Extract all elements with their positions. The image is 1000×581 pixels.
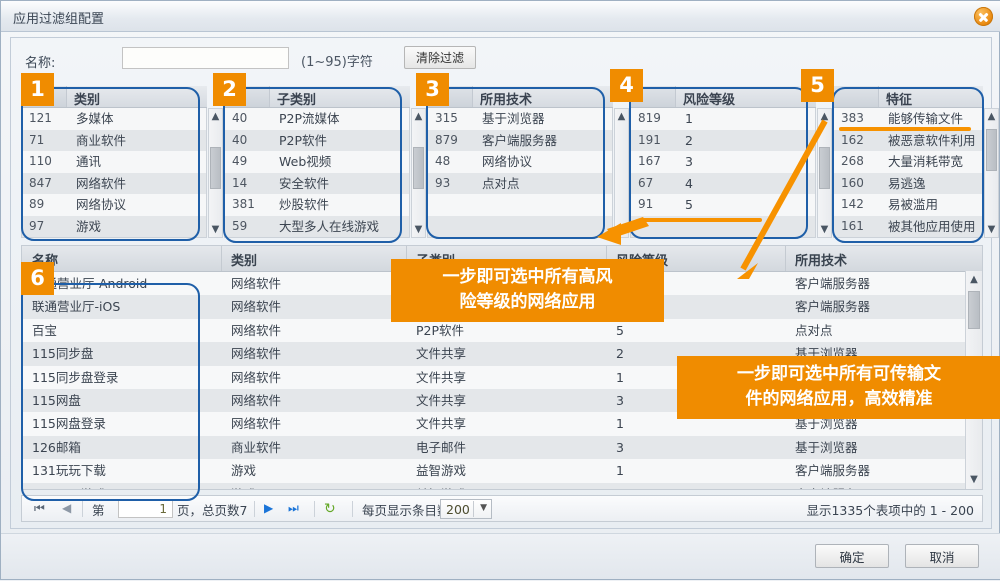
cell-subcategory: 文件共享 — [416, 366, 466, 389]
filter-header: 风险等级 — [630, 86, 816, 108]
column-header-category[interactable]: 类别 — [231, 250, 257, 269]
table-row[interactable]: 131玩玩下载游戏益智游戏1客户端服务器 — [22, 459, 982, 482]
row-count: 49 — [232, 151, 274, 173]
name-label: 名称: — [25, 52, 55, 71]
filter-row[interactable]: 71商业软件 — [22, 130, 206, 152]
cell-category: 游戏 — [231, 459, 256, 482]
filter-row[interactable]: 161被其他应用使用 — [834, 216, 982, 238]
callout-file-transfer: 一步即可选中所有可传输文 件的网络应用，高效精准 — [677, 356, 1000, 419]
row-label: 多媒体 — [76, 108, 114, 130]
row-label: P2P流媒体 — [279, 108, 340, 130]
row-label: 网络协议 — [76, 194, 126, 216]
row-label: 被恶意软件利用 — [888, 130, 976, 152]
row-label: 安全软件 — [279, 173, 329, 195]
callout-line-2: 险等级的网络应用 — [401, 290, 654, 315]
window-title: 应用过滤组配置 — [13, 8, 104, 27]
row-label: 商业软件 — [76, 130, 126, 152]
row-count: 879 — [435, 130, 477, 152]
scroll-thumb[interactable] — [413, 147, 424, 189]
cell-technology: 客户端服务器 — [795, 459, 870, 482]
chevron-down-icon[interactable]: ▼ — [480, 503, 487, 513]
cell-category: 网络软件 — [231, 366, 281, 389]
row-count: 191 — [638, 130, 680, 152]
refresh-icon[interactable]: ↻ — [324, 501, 336, 517]
filter-row[interactable]: 1673 — [631, 151, 815, 173]
scroll-up-icon[interactable]: ▲ — [966, 272, 982, 288]
table-row[interactable]: 131玩玩游戏游戏益智游戏1客户端服务器 — [22, 483, 982, 490]
row-count: 97 — [29, 216, 71, 238]
filter-scrollbar[interactable]: ▲ ▼ — [208, 108, 223, 238]
filter-list-technology: 所用技术 315基于浏览器 879客户端服务器 48网络协议 93点对点 ▲ ▼ — [427, 86, 613, 238]
row-label: 网络软件 — [76, 173, 126, 195]
cell-category: 网络软件 — [231, 412, 281, 435]
row-count: 59 — [232, 216, 274, 238]
cell-name: 126邮箱 — [32, 436, 81, 459]
cell-risk: 1 — [616, 412, 624, 435]
filter-scrollbar[interactable]: ▲ ▼ — [411, 108, 426, 238]
table-row[interactable]: 百宝网络软件P2P软件5点对点 — [22, 319, 982, 342]
filter-list-subcategory: 子类别 40P2P流媒体 40P2P软件 49Web视频 14安全软件 381炒… — [224, 86, 410, 238]
filter-header: 特征 — [833, 86, 983, 108]
filter-row[interactable]: 162被恶意软件利用 — [834, 130, 982, 152]
step-badge-1: 1 — [21, 73, 54, 106]
row-label: 客户端服务器 — [482, 130, 557, 152]
row-label: 易被滥用 — [888, 194, 938, 216]
filter-row[interactable]: 381炒股软件 — [225, 194, 409, 216]
feature-row-underline — [839, 127, 971, 131]
row-count: 40 — [232, 130, 274, 152]
filter-row[interactable]: 847网络软件 — [22, 173, 206, 195]
cell-risk: 3 — [616, 436, 624, 459]
filter-row[interactable]: 121多媒体 — [22, 108, 206, 130]
filter-header-label: 类别 — [74, 89, 100, 108]
cell-category: 游戏 — [231, 483, 256, 490]
row-count: 315 — [435, 108, 477, 130]
filter-row[interactable]: 14安全软件 — [225, 173, 409, 195]
scroll-up-icon[interactable]: ▲ — [818, 109, 831, 124]
row-label: Web视频 — [279, 151, 331, 173]
per-page-value: 200 — [446, 502, 470, 517]
filter-row[interactable]: 48网络协议 — [428, 151, 612, 173]
cell-name: 115同步盘登录 — [32, 366, 118, 389]
prev-page-icon[interactable]: ◀ — [62, 501, 71, 515]
table-row[interactable]: 126邮箱商业软件电子邮件3基于浏览器 — [22, 436, 982, 459]
callout-line-2: 件的网络应用，高效精准 — [687, 387, 991, 412]
row-label: 5 — [685, 194, 693, 216]
step-badge-5: 5 — [801, 69, 834, 102]
cell-category: 商业软件 — [231, 436, 281, 459]
cell-category: 网络软件 — [231, 319, 281, 342]
cell-subcategory: 电子邮件 — [416, 436, 466, 459]
scroll-up-icon[interactable]: ▲ — [985, 109, 998, 124]
scroll-up-icon[interactable]: ▲ — [615, 109, 628, 124]
filter-row[interactable]: 268大量消耗带宽 — [834, 151, 982, 173]
column-header-technology[interactable]: 所用技术 — [795, 250, 847, 269]
scroll-down-icon[interactable]: ▼ — [818, 222, 831, 237]
row-label: 3 — [685, 151, 693, 173]
filter-row[interactable]: 89网络协议 — [22, 194, 206, 216]
scroll-down-icon[interactable]: ▼ — [966, 472, 982, 488]
filter-row[interactable]: 40P2P软件 — [225, 130, 409, 152]
row-label: 大量消耗带宽 — [888, 151, 963, 173]
scroll-up-icon[interactable]: ▲ — [209, 109, 222, 124]
row-label: 被其他应用使用 — [888, 216, 976, 238]
filter-row[interactable]: 8191 — [631, 108, 815, 130]
filter-header: 所用技术 — [427, 86, 613, 108]
row-label: 4 — [685, 173, 693, 195]
cell-name: 131玩玩下载 — [32, 459, 106, 482]
cell-category: 网络软件 — [231, 342, 281, 365]
filter-row[interactable]: 1912 — [631, 130, 815, 152]
cell-name: 131玩玩游戏 — [32, 483, 106, 490]
row-label: 点对点 — [482, 173, 520, 195]
scroll-thumb[interactable] — [210, 147, 221, 189]
cell-category: 网络软件 — [231, 295, 281, 318]
step-badge-4: 4 — [610, 69, 643, 102]
filter-row[interactable]: 49Web视频 — [225, 151, 409, 173]
row-count: 48 — [435, 151, 477, 173]
callout-line-1: 一步即可选中所有可传输文 — [687, 362, 991, 387]
cell-name: 百宝 — [32, 319, 57, 342]
cell-technology: 基于浏览器 — [795, 436, 858, 459]
filter-list-category: 类别 121多媒体 71商业软件 110通讯 847网络软件 89网络协议 97… — [21, 86, 207, 238]
row-label: P2P软件 — [279, 130, 327, 152]
length-hint: (1~95)字符 — [301, 51, 373, 70]
cell-category: 网络软件 — [231, 389, 281, 412]
cell-technology: 客户端服务器 — [795, 295, 870, 318]
row-count: 160 — [841, 173, 883, 195]
row-count: 819 — [638, 108, 680, 130]
pagination-bar: ⏮ ◀ 第 页，总页数7 ▶ ⏭ ↻ 每页显示条目数 200 ▼ 显示1335个… — [21, 495, 983, 522]
cell-risk: 1 — [616, 459, 624, 482]
filter-scrollbar[interactable]: ▲ ▼ — [614, 108, 629, 238]
name-input[interactable] — [122, 47, 289, 69]
filter-rows: 121多媒体 71商业软件 110通讯 847网络软件 89网络协议 97游戏 — [21, 108, 207, 238]
row-count: 93 — [435, 173, 477, 195]
header-divider — [785, 246, 786, 271]
scroll-thumb[interactable] — [968, 291, 980, 329]
filter-header: 子类别 — [224, 86, 410, 108]
row-count: 121 — [29, 108, 71, 130]
total-pages-label: 页，总页数7 — [177, 500, 247, 519]
title-bar: 应用过滤组配置 — [1, 1, 1000, 32]
row-count: 381 — [232, 194, 274, 216]
cell-subcategory: 文件共享 — [416, 389, 466, 412]
name-row: 名称: (1~95)字符 清除过滤 — [21, 46, 981, 74]
filter-header-label: 特征 — [886, 89, 912, 108]
per-page-select[interactable]: 200 ▼ — [440, 499, 492, 519]
filter-row[interactable]: 59大型多人在线游戏 — [225, 216, 409, 238]
cell-risk: 1 — [616, 366, 624, 389]
cell-category: 网络软件 — [231, 272, 281, 295]
filter-row[interactable]: 93点对点 — [428, 173, 612, 195]
count-column-header — [833, 86, 879, 107]
cell-technology: 客户端服务器 — [795, 272, 870, 295]
callout-risk-level: 一步即可选中所有高风 险等级的网络应用 — [391, 259, 664, 322]
filter-row[interactable]: 97游戏 — [22, 216, 206, 238]
last-page-icon[interactable]: ⏭ — [288, 501, 299, 516]
filter-list-risk-level: 风险等级 8191 1912 1673 674 915 ▲ ▼ — [630, 86, 816, 238]
record-range-status: 显示1335个表项中的 1 - 200 — [806, 500, 974, 519]
filter-row[interactable] — [428, 194, 612, 216]
cell-subcategory: 文件共享 — [416, 412, 466, 435]
cell-risk: 2 — [616, 342, 624, 365]
application-filter-group-dialog: 应用过滤组配置 名称: (1~95)字符 清除过滤 类别 121多媒体 71商业… — [0, 0, 1000, 580]
cell-risk: 5 — [616, 319, 624, 342]
cell-technology: 点对点 — [795, 319, 833, 342]
filter-row[interactable]: 315基于浏览器 — [428, 108, 612, 130]
row-label: 易逃逸 — [888, 173, 926, 195]
filter-header-label: 子类别 — [277, 89, 316, 108]
row-label: 基于浏览器 — [482, 108, 545, 130]
filter-row[interactable]: 879客户端服务器 — [428, 130, 612, 152]
first-page-icon[interactable]: ⏮ — [34, 501, 45, 516]
row-count: 268 — [841, 151, 883, 173]
page-prefix-label: 第 — [92, 500, 105, 519]
cell-subcategory: P2P软件 — [416, 319, 464, 342]
filter-scrollbar[interactable]: ▲ ▼ — [984, 108, 999, 238]
row-label: 2 — [685, 130, 693, 152]
scroll-up-icon[interactable]: ▲ — [412, 109, 425, 124]
clear-filter-button[interactable]: 清除过滤 — [404, 46, 476, 69]
filter-row[interactable]: 142易被滥用 — [834, 194, 982, 216]
cell-risk: 3 — [616, 389, 624, 412]
row-count: 142 — [841, 194, 883, 216]
scroll-down-icon[interactable]: ▼ — [615, 222, 628, 237]
filter-rows: 315基于浏览器 879客户端服务器 48网络协议 93点对点 — [427, 108, 613, 238]
scroll-thumb[interactable] — [986, 129, 997, 171]
risk-row-underline — [640, 218, 762, 222]
row-count: 847 — [29, 173, 71, 195]
cell-name: 115网盘 — [32, 389, 81, 412]
filter-list-feature: 特征 383能够传输文件 162被恶意软件利用 268大量消耗带宽 160易逃逸… — [833, 86, 983, 238]
row-label: 大型多人在线游戏 — [279, 216, 379, 238]
row-count: 161 — [841, 216, 883, 238]
scroll-down-icon[interactable]: ▼ — [412, 222, 425, 237]
row-label: 炒股软件 — [279, 194, 329, 216]
cell-subcategory: 益智游戏 — [416, 459, 466, 482]
cell-subcategory: 文件共享 — [416, 342, 466, 365]
close-icon[interactable] — [974, 7, 993, 26]
filter-header-label: 风险等级 — [683, 89, 735, 108]
row-count: 14 — [232, 173, 274, 195]
dialog-footer: 确定 取消 — [1, 533, 1000, 579]
row-count: 40 — [232, 108, 274, 130]
row-label: 网络协议 — [482, 151, 532, 173]
scroll-down-icon[interactable]: ▼ — [985, 222, 998, 237]
row-count: 71 — [29, 130, 71, 152]
cell-technology: 客户端服务器 — [795, 483, 870, 490]
filter-header-label: 所用技术 — [480, 89, 532, 108]
row-label: 1 — [685, 108, 693, 130]
cell-subcategory: 益智游戏 — [416, 483, 466, 490]
filter-rows: 40P2P流媒体 40P2P软件 49Web视频 14安全软件 381炒股软件 … — [224, 108, 410, 238]
step-badge-3: 3 — [416, 73, 449, 106]
filter-scrollbar[interactable]: ▲ ▼ — [817, 108, 832, 238]
filter-row[interactable]: 40P2P流媒体 — [225, 108, 409, 130]
row-label: 通讯 — [76, 151, 101, 173]
cancel-button[interactable]: 取消 — [905, 544, 979, 568]
cell-name: 115同步盘 — [32, 342, 93, 365]
next-page-icon[interactable]: ▶ — [264, 501, 273, 515]
step-badge-2: 2 — [213, 73, 246, 106]
row-count: 167 — [638, 151, 680, 173]
filter-lists: 类别 121多媒体 71商业软件 110通讯 847网络软件 89网络协议 97… — [21, 86, 983, 238]
cell-name: 联通营业厅-iOS — [32, 295, 120, 318]
scroll-down-icon[interactable]: ▼ — [209, 222, 222, 237]
ok-button[interactable]: 确定 — [815, 544, 889, 568]
row-count: 89 — [29, 194, 71, 216]
cell-name: 115网盘登录 — [32, 412, 106, 435]
filter-row[interactable]: 110通讯 — [22, 151, 206, 173]
page-number-input[interactable] — [118, 499, 173, 518]
scroll-thumb[interactable] — [819, 147, 830, 189]
cell-risk: 1 — [616, 483, 624, 490]
per-page-label: 每页显示条目数 — [362, 500, 450, 519]
callout-line-1: 一步即可选中所有高风 — [401, 265, 654, 290]
filter-row[interactable] — [428, 216, 612, 238]
row-count: 110 — [29, 151, 71, 173]
row-label: 游戏 — [76, 216, 101, 238]
row-count: 67 — [638, 173, 680, 195]
step-badge-6: 6 — [21, 262, 54, 295]
header-divider — [221, 246, 222, 271]
row-count: 162 — [841, 130, 883, 152]
filter-row[interactable]: 160易逃逸 — [834, 173, 982, 195]
filter-row[interactable]: 674 — [631, 173, 815, 195]
row-count: 91 — [638, 194, 680, 216]
filter-row[interactable]: 915 — [631, 194, 815, 216]
